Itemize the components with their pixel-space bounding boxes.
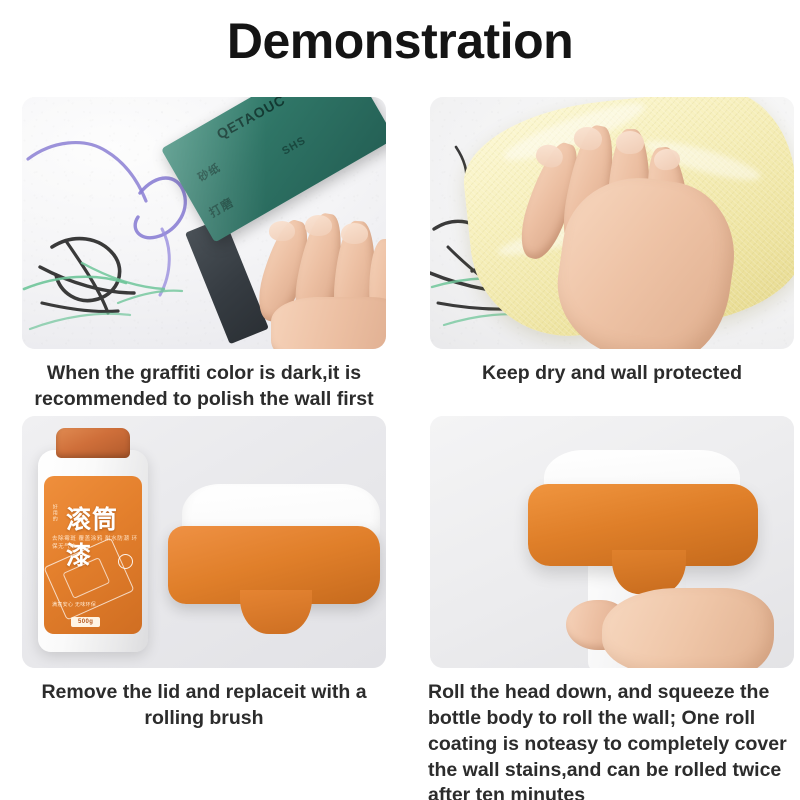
step-caption-3: Remove the lid and replaceit with a roll…: [8, 668, 400, 731]
palm-4: [602, 588, 774, 668]
step-caption-1: When the graffiti color is dark,it is re…: [8, 349, 400, 412]
hand-holding-block: [247, 213, 386, 349]
step-card-2: Keep dry and wall protected: [416, 93, 800, 412]
demonstration-page: Demonstration: [0, 0, 800, 800]
step-card-1: QETAOUC 砂纸 SHS 打磨: [8, 93, 400, 412]
step-caption-4: Roll the head down, and squeeze the bott…: [416, 668, 800, 800]
step-photo-2: [430, 97, 794, 349]
step-photo-4: [430, 416, 794, 668]
label-weight-badge: 500g: [71, 617, 100, 627]
label-footer-text: 满意安心 无味环保: [52, 602, 96, 609]
step-card-4: Roll the head down, and squeeze the bott…: [416, 412, 800, 800]
fingernail-1: [269, 221, 295, 241]
step-caption-2: Keep dry and wall protected: [416, 349, 800, 387]
step-card-3: 好用的 滚筒漆 去除霉斑 覆盖涂鸦 耐水防潮 环保无气味 满意安心 无味环保 5…: [8, 412, 400, 800]
bottle-label: 好用的 滚筒漆 去除霉斑 覆盖涂鸦 耐水防潮 环保无气味 满意安心 无味环保 5…: [44, 476, 142, 634]
bottle-cap: [56, 428, 130, 458]
fingernail-ring: [616, 131, 644, 154]
roller-stem: [240, 590, 312, 634]
roller-head: [168, 484, 380, 644]
page-title: Demonstration: [0, 0, 800, 69]
step-photo-3: 好用的 滚筒漆 去除霉斑 覆盖涂鸦 耐水防潮 环保无气味 满意安心 无味环保 5…: [22, 416, 386, 668]
step-photo-1: QETAOUC 砂纸 SHS 打磨: [22, 97, 386, 349]
hand-squeezing-bottle: [562, 582, 774, 668]
hand-wiping: [526, 123, 751, 349]
fingernail-3: [341, 223, 368, 244]
fingernail-2: [305, 215, 332, 236]
paint-bottle: 好用的 滚筒漆 去除霉斑 覆盖涂鸦 耐水防潮 环保无气味 满意安心 无味环保 5…: [38, 428, 148, 652]
palm-knuckles: [271, 297, 386, 349]
steps-grid: QETAOUC 砂纸 SHS 打磨: [0, 93, 800, 800]
sanding-tool-group: QETAOUC 砂纸 SHS 打磨: [155, 149, 386, 349]
label-brand-small: 好用的: [51, 504, 57, 522]
